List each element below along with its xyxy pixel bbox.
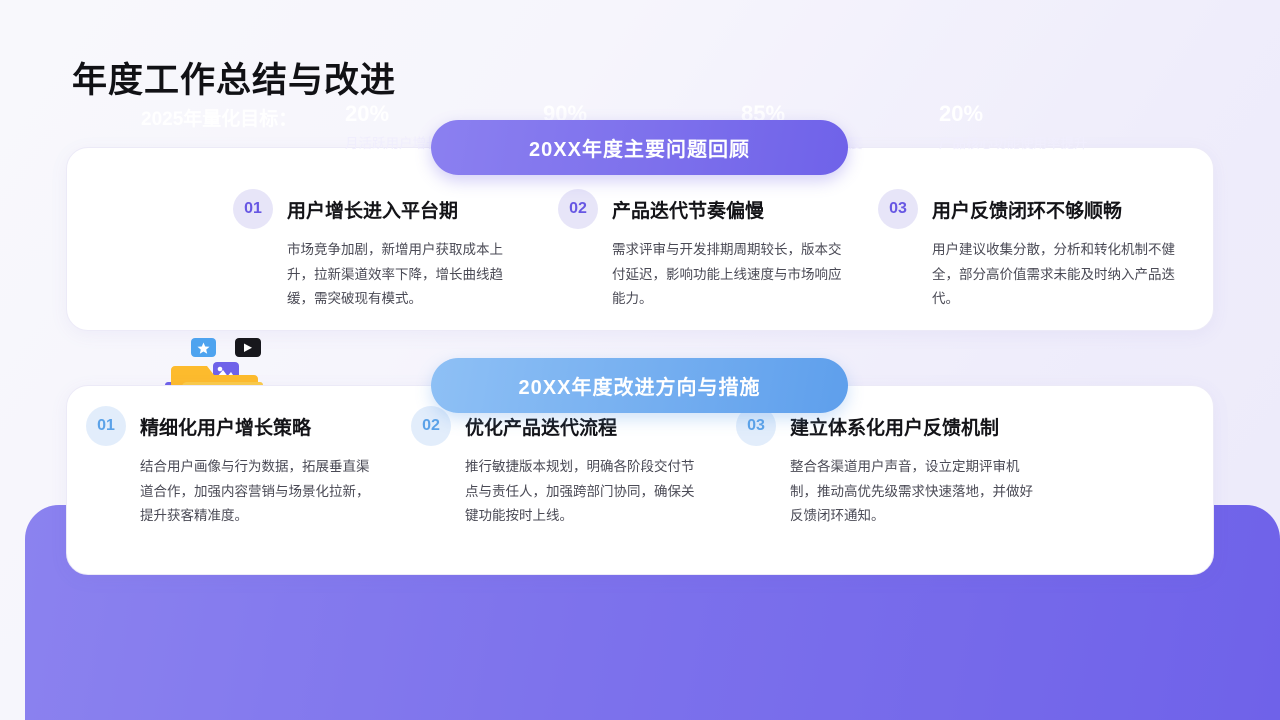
issues-banner: 20XX年度主要问题回顾: [431, 120, 848, 175]
metric-value-1: 20%: [345, 100, 440, 128]
metric-label-4: 产品核心功能使用率提升: [939, 132, 1088, 152]
slide-root: 年度工作总结与改进: [0, 0, 1280, 720]
actions-banner: 20XX年度改进方向与措施: [431, 358, 848, 413]
metric-item-1: 20% 月活跃用户增长: [345, 100, 440, 152]
metric-item-4: 20% 产品核心功能使用率提升: [939, 100, 1088, 152]
metric-value-4: 20%: [939, 100, 1088, 128]
metrics-label: 2025年量化目标：: [141, 104, 297, 131]
metric-label-1: 月活跃用户增长: [345, 132, 440, 152]
